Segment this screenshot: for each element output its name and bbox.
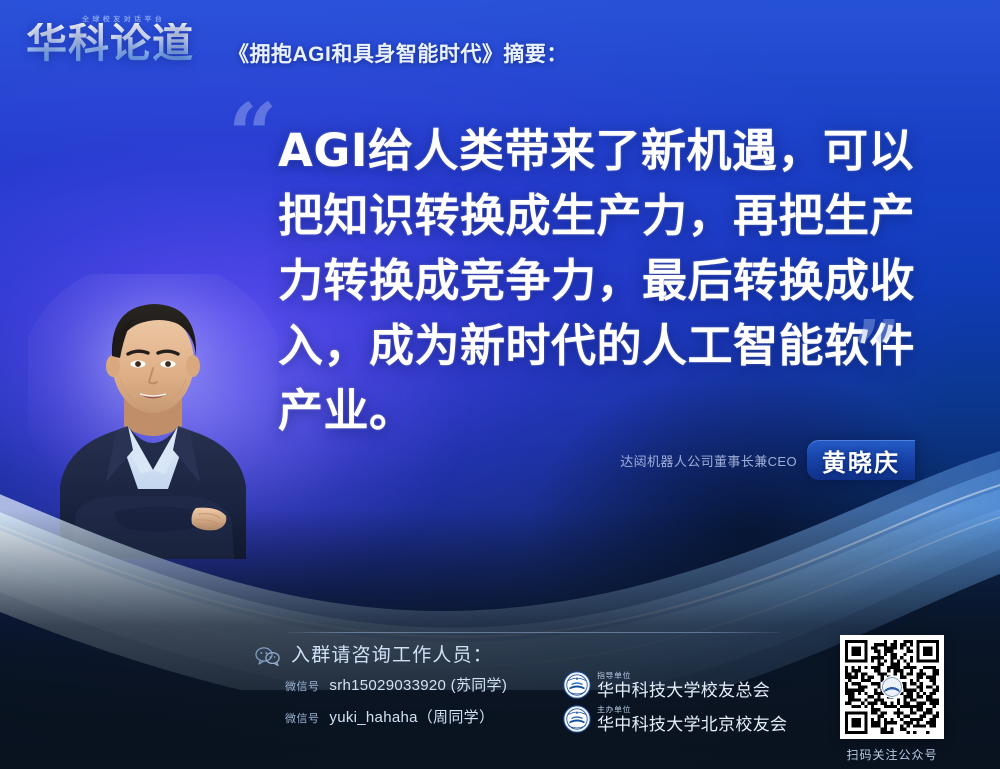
wechat-icon (255, 646, 281, 666)
organizer-name: 华中科技大学北京校友会 (597, 715, 787, 734)
footer-heading: 入群请咨询工作人员： (291, 640, 493, 667)
contact-label: 微信号 (285, 713, 320, 725)
header: 全球校友对话平台 华科论道 《拥抱AGI和具身智能时代》摘要： (0, 0, 1000, 96)
brand-logo: 全球校友对话平台 华科论道 (26, 14, 216, 76)
qr-code[interactable] (840, 635, 944, 739)
organizer-row: 主办单位 华中科技大学北京校友会 (563, 704, 787, 733)
organizer-kicker: 指导单位 (597, 672, 770, 682)
speaker-name: 黄晓庆 (822, 443, 900, 478)
organizer-text: 指导单位 华中科技大学校友总会 (597, 671, 770, 700)
quote-open-mark: “ (228, 93, 277, 179)
contact-value: srh15029033920 (苏同学) (329, 677, 507, 694)
speaker-name-badge: 黄晓庆 (807, 440, 915, 480)
brand-name: 华科论道 (26, 23, 194, 64)
page-title: 《拥抱AGI和具身智能时代》摘要： (228, 38, 568, 68)
quote-text: AGI给人类带来了新机遇，可以把知识转换成生产力，再把生产力转换成竞争力，最后转… (278, 118, 938, 443)
organizer-row: 指导单位 华中科技大学校友总会 (563, 670, 770, 699)
organizer-text: 主办单位 华中科技大学北京校友会 (597, 705, 787, 734)
poster-canvas: 全球校友对话平台 华科论道 《拥抱AGI和具身智能时代》摘要： “ AGI给人类… (0, 0, 1000, 769)
contact-value: yuki_hahaha（周同学） (329, 709, 494, 726)
contact-label: 微信号 (285, 681, 320, 693)
attribution: 达闼机器人公司董事长兼CEO 黄晓庆 (600, 440, 915, 480)
contact-row: 微信号 yuki_hahaha（周同学） (285, 706, 494, 727)
contact-row: 微信号 srh15029033920 (苏同学) (285, 674, 507, 695)
footer-divider (287, 632, 780, 633)
qr-block: 扫码关注公众号 (840, 635, 944, 763)
speaker-role: 达闼机器人公司董事长兼CEO (620, 451, 797, 470)
organizer-name: 华中科技大学校友总会 (597, 681, 770, 700)
university-seal-icon (563, 671, 591, 699)
university-seal-icon (563, 705, 591, 733)
quote-close-mark: ” (852, 310, 901, 396)
organizer-kicker: 主办单位 (597, 706, 787, 716)
qr-caption: 扫码关注公众号 (840, 746, 944, 763)
